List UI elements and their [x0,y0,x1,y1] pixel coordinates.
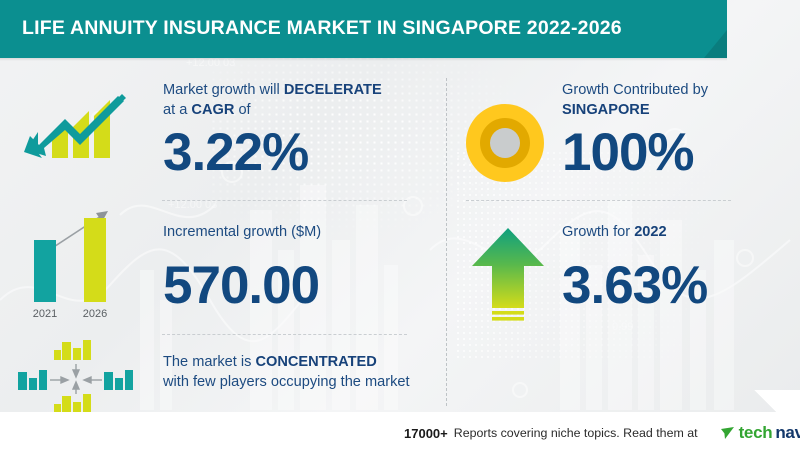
yearly-growth-label-prefix: Growth for [562,224,634,240]
growth-bars-icon: 2021 2026 [18,198,130,320]
cagr-text-emphasis2: CAGR [191,102,234,118]
incremental-growth-label: Incremental growth ($M) [163,222,425,242]
technavio-arrow-icon [720,425,736,441]
contribution-label-line1: Growth Contributed by [562,82,708,98]
donut-center [490,128,520,158]
banner-underline [0,58,727,61]
up-arrow-icon [472,228,544,324]
divider-cagr-incremental [162,200,407,201]
cagr-text-middle: at a [163,102,191,118]
donut-chart-icon [466,104,544,182]
yearly-growth-label: Growth for 2022 [562,222,772,242]
cagr-description: Market growth will DECELERATE at a CAGR … [163,80,425,120]
divider-incremental-concentration [162,334,407,335]
bar-label-2021: 2021 [27,308,63,320]
footer-fold-corner [730,390,800,412]
cagr-text-prefix: Market growth will [163,82,284,98]
footer-bar: 17000+ Reports covering niche topics. Re… [0,412,800,450]
technavio-logo-navio: navio [775,423,800,443]
page-title: LIFE ANNUITY INSURANCE MARKET IN SINGAPO… [22,17,622,40]
divider-columns [446,78,447,406]
footer-report-count: 17000+ [404,426,448,441]
technavio-logo[interactable]: technavio® [720,423,800,443]
cagr-text-emphasis: DECELERATE [284,82,382,98]
concentration-text-suffix: with few players occupying the market [163,374,410,390]
infographic-canvas: +12.00 03 +12.00 03 0.99 LIFE ANNUITY IN… [0,0,800,450]
concentration-text-prefix: The market is [163,354,255,370]
market-concentration-icon [16,340,136,416]
divider-contribution-growth [466,200,731,201]
svg-text:0.99: 0.99 [612,321,633,333]
contribution-label-line2: SINGAPORE [562,102,650,118]
footer-content: 17000+ Reports covering niche topics. Re… [404,423,800,443]
decelerating-bar-chart-icon [18,88,128,166]
contribution-value: 100% [562,122,694,183]
concentration-text-emphasis: CONCENTRATED [255,354,376,370]
incremental-growth-value: 570.00 [163,255,319,316]
cagr-text-suffix: of [234,102,250,118]
footer-tagline: Reports covering niche topics. Read them… [454,426,698,440]
cagr-value: 3.22% [163,122,308,183]
yearly-growth-value: 3.63% [562,255,707,316]
concentration-description: The market is CONCENTRATED with few play… [163,352,421,392]
yearly-growth-year: 2022 [634,224,666,240]
bar-2021 [34,240,56,302]
bar-label-2026: 2026 [77,308,113,320]
technavio-logo-tech: tech [739,423,773,443]
donut-inner-ring [480,118,530,168]
contribution-label: Growth Contributed by SINGAPORE [562,80,772,120]
bar-2026 [84,218,106,302]
